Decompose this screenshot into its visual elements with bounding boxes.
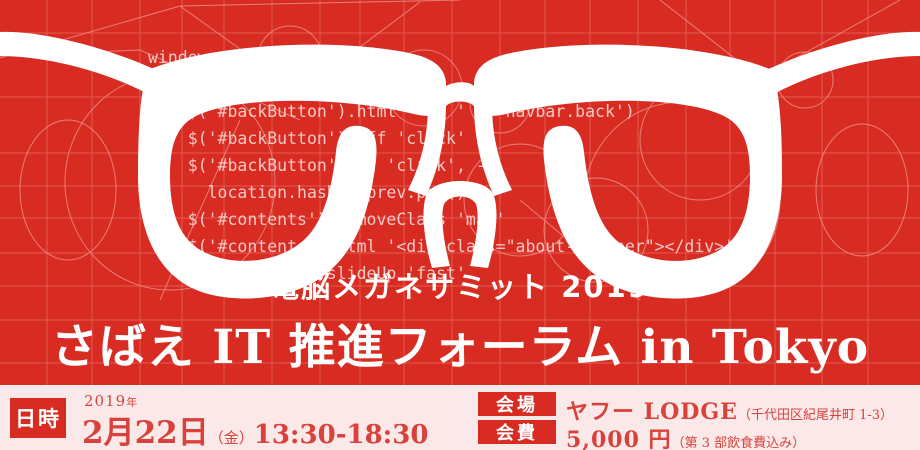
date-day: 2月22日: [82, 415, 209, 450]
event-title: さばえ IT 推進フォーラム in Tokyo: [0, 308, 920, 377]
date-weekday: （金）: [209, 429, 254, 447]
event-poster: window.aboutThisApp = -> do partsReset =…: [0, 0, 920, 450]
title-band: 電脳メガネサミット 2019 さばえ IT 推進フォーラム in Tokyo: [0, 255, 920, 385]
date-time: 13:30-18:30: [254, 420, 429, 450]
date-badge: 日時: [10, 398, 66, 438]
fee-badge: 会費: [478, 420, 556, 444]
venue-badge: 会場: [478, 392, 556, 416]
venue-address: （千代田区紀尾井町 1-3）: [738, 408, 893, 423]
fee-info: 5,000 円（第 3 部飲食費込み）: [566, 422, 805, 450]
event-date: 2月22日（金）13:30-18:30: [82, 407, 428, 450]
fee-note: （第 3 部飲食費込み）: [672, 436, 806, 450]
event-subtitle: 電脳メガネサミット 2019: [0, 264, 920, 306]
fee-amount: 5,000 円: [566, 427, 672, 450]
